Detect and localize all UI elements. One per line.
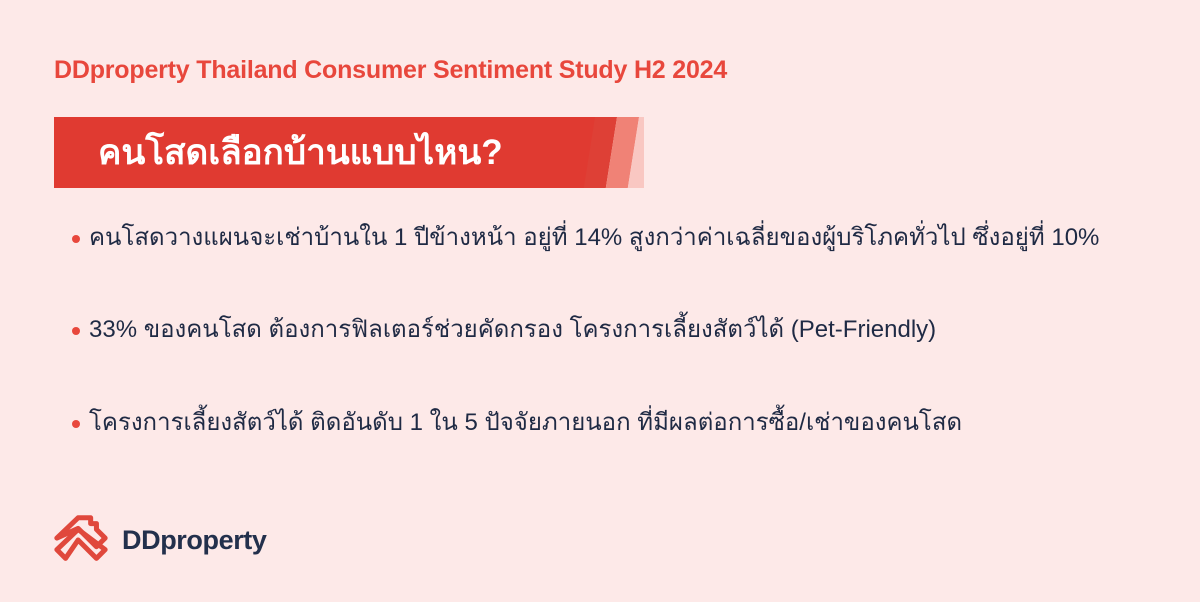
bullet-dot-icon <box>72 235 80 243</box>
ddproperty-house-chevron-logo-icon <box>52 512 110 568</box>
ddproperty-logo: DDproperty <box>52 512 267 568</box>
list-item: 33% ของคนโสด ต้องการฟิลเตอร์ช่วยคัดกรอง … <box>72 314 1162 346</box>
headline-banner: คนโสดเลือกบ้านแบบไหน? <box>54 117 644 188</box>
bullet-dot-icon <box>72 420 80 428</box>
study-title: DDproperty Thailand Consumer Sentiment S… <box>54 56 727 85</box>
list-item: โครงการเลี้ยงสัตว์ได้ ติดอันดับ 1 ใน 5 ป… <box>72 407 1162 439</box>
bullet-text: คนโสดวางแผนจะเช่าบ้านใน 1 ปีข้างหน้า อยู… <box>89 222 1099 254</box>
banner-headline: คนโสดเลือกบ้านแบบไหน? <box>98 117 503 188</box>
list-item: คนโสดวางแผนจะเช่าบ้านใน 1 ปีข้างหน้า อยู… <box>72 222 1162 254</box>
bullet-text: 33% ของคนโสด ต้องการฟิลเตอร์ช่วยคัดกรอง … <box>89 314 936 346</box>
bullet-list: คนโสดวางแผนจะเช่าบ้านใน 1 ปีข้างหน้า อยู… <box>72 222 1162 439</box>
infographic-canvas: DDproperty Thailand Consumer Sentiment S… <box>0 0 1200 602</box>
ddproperty-wordmark: DDproperty <box>122 525 267 556</box>
bullet-text: โครงการเลี้ยงสัตว์ได้ ติดอันดับ 1 ใน 5 ป… <box>89 407 962 439</box>
bullet-dot-icon <box>72 327 80 335</box>
